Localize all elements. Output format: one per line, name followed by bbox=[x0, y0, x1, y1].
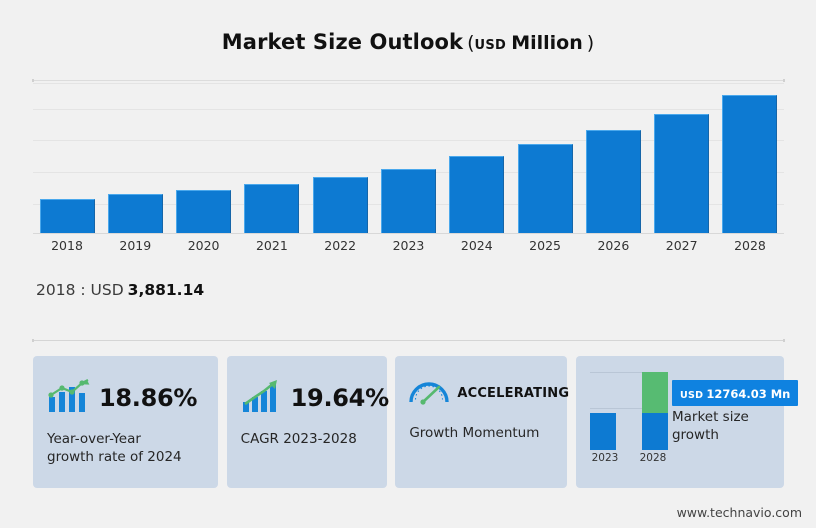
x-tick-2028: 2028 bbox=[716, 238, 784, 256]
bar-2020 bbox=[176, 190, 231, 233]
card-momentum-header: ACCELERATING bbox=[395, 356, 567, 410]
card-yoy-header: 18.86% bbox=[33, 356, 218, 418]
card-market-size-caption-line1: Market size bbox=[672, 408, 778, 426]
bar-2021 bbox=[244, 184, 299, 233]
bar-2018 bbox=[40, 199, 95, 233]
bar-slot bbox=[511, 83, 579, 233]
highlight-value: 2018 : USD3,881.14 bbox=[36, 281, 204, 299]
bar-slot bbox=[170, 83, 238, 233]
title-currency-label: USD bbox=[475, 38, 507, 53]
mini-x-tick-2023: 2023 bbox=[590, 452, 620, 464]
mini-x-tick-2028: 2028 bbox=[638, 452, 668, 464]
market-size-bar-chart bbox=[33, 83, 784, 233]
mini-bar-series bbox=[590, 372, 668, 450]
mini-bar-2023 bbox=[590, 372, 616, 450]
mini-bar-chart-icon: 20232028 bbox=[590, 372, 668, 458]
bar-slot bbox=[238, 83, 306, 233]
bar-chart-line-icon bbox=[47, 378, 91, 418]
card-market-size-caption: Market size growth bbox=[672, 408, 778, 444]
bar-slot bbox=[716, 83, 784, 233]
cagr-value: 19.64% bbox=[291, 384, 389, 412]
speedometer-icon bbox=[407, 376, 451, 410]
growth-arrow-icon bbox=[241, 378, 283, 418]
bar-2022 bbox=[313, 177, 368, 233]
title-unit-label: Million bbox=[511, 32, 583, 54]
x-tick-2021: 2021 bbox=[238, 238, 306, 256]
x-tick-2022: 2022 bbox=[306, 238, 374, 256]
x-tick-2025: 2025 bbox=[511, 238, 579, 256]
bar-slot bbox=[33, 83, 101, 233]
card-cagr-caption-line1: CAGR 2023-2028 bbox=[241, 430, 387, 448]
mini-bar-growth-segment bbox=[642, 372, 668, 413]
chart-baseline bbox=[33, 233, 784, 234]
bar-slot bbox=[374, 83, 442, 233]
bar-2019 bbox=[108, 194, 163, 233]
bar-slot bbox=[648, 83, 716, 233]
bar-slot bbox=[306, 83, 374, 233]
mini-bar-base-segment bbox=[642, 413, 668, 450]
bar-slot bbox=[443, 83, 511, 233]
bar-slot bbox=[101, 83, 169, 233]
divider-cap-right bbox=[783, 79, 785, 82]
highlight-year-label: 2018 : USD bbox=[36, 281, 124, 299]
card-market-size-growth[interactable]: 20232028 USD12764.03 Mn Market size grow… bbox=[576, 356, 784, 488]
card-yoy-caption-line2: growth rate of 2024 bbox=[47, 448, 218, 466]
card-yoy-caption-line1: Year-over-Year bbox=[47, 430, 218, 448]
card-cagr-header: 19.64% bbox=[227, 356, 387, 418]
divider-cap-left bbox=[32, 79, 34, 82]
badge-currency: USD bbox=[680, 390, 703, 401]
yoy-growth-value: 18.86% bbox=[99, 384, 197, 412]
card-yoy-caption: Year-over-Year growth rate of 2024 bbox=[33, 418, 218, 466]
footer-url: www.technavio.com bbox=[677, 505, 802, 520]
card-cagr[interactable]: 19.64% CAGR 2023-2028 bbox=[227, 356, 387, 488]
x-axis-labels: 2018201920202021202220232024202520262027… bbox=[33, 238, 784, 256]
stat-card-row: 18.86% Year-over-Year growth rate of 202… bbox=[33, 356, 784, 488]
divider-middle bbox=[33, 340, 784, 341]
highlight-amount: 3,881.14 bbox=[128, 281, 205, 299]
x-tick-2026: 2026 bbox=[579, 238, 647, 256]
bar-2025 bbox=[518, 144, 573, 233]
x-tick-2018: 2018 bbox=[33, 238, 101, 256]
market-size-growth-badge: USD12764.03 Mn bbox=[672, 380, 798, 406]
divider-cap-left bbox=[32, 339, 34, 342]
x-tick-2023: 2023 bbox=[374, 238, 442, 256]
page-title: Market Size Outlook(USD Million) bbox=[0, 30, 816, 54]
card-momentum-caption: Growth Momentum bbox=[395, 410, 567, 442]
title-close-paren: ) bbox=[587, 32, 594, 54]
x-tick-2024: 2024 bbox=[443, 238, 511, 256]
x-tick-2019: 2019 bbox=[101, 238, 169, 256]
x-tick-2020: 2020 bbox=[170, 238, 238, 256]
mini-bar-2028 bbox=[642, 372, 668, 450]
card-momentum-caption-line1: Growth Momentum bbox=[409, 424, 567, 442]
bar-slot bbox=[579, 83, 647, 233]
badge-value: 12764.03 Mn bbox=[706, 387, 790, 401]
bar-2028 bbox=[722, 95, 777, 233]
mini-x-axis-labels: 20232028 bbox=[590, 452, 668, 464]
market-size-infographic: Market Size Outlook(USD Million) 2018201… bbox=[0, 0, 816, 528]
card-growth-momentum[interactable]: ACCELERATING Growth Momentum bbox=[395, 356, 567, 488]
bar-2023 bbox=[381, 169, 436, 233]
card-market-size-caption-line2: growth bbox=[672, 426, 778, 444]
bar-series bbox=[33, 83, 784, 233]
mini-bar-base-segment bbox=[590, 413, 616, 450]
divider-top bbox=[33, 80, 784, 81]
momentum-value: ACCELERATING bbox=[457, 386, 569, 401]
card-cagr-caption: CAGR 2023-2028 bbox=[227, 418, 387, 448]
title-main-text: Market Size Outlook bbox=[222, 30, 463, 54]
bar-2024 bbox=[449, 156, 504, 233]
title-open-paren: ( bbox=[467, 32, 474, 54]
bar-2027 bbox=[654, 114, 709, 233]
bar-2026 bbox=[586, 130, 641, 233]
divider-cap-right bbox=[783, 339, 785, 342]
x-tick-2027: 2027 bbox=[648, 238, 716, 256]
card-yoy-growth[interactable]: 18.86% Year-over-Year growth rate of 202… bbox=[33, 356, 218, 488]
